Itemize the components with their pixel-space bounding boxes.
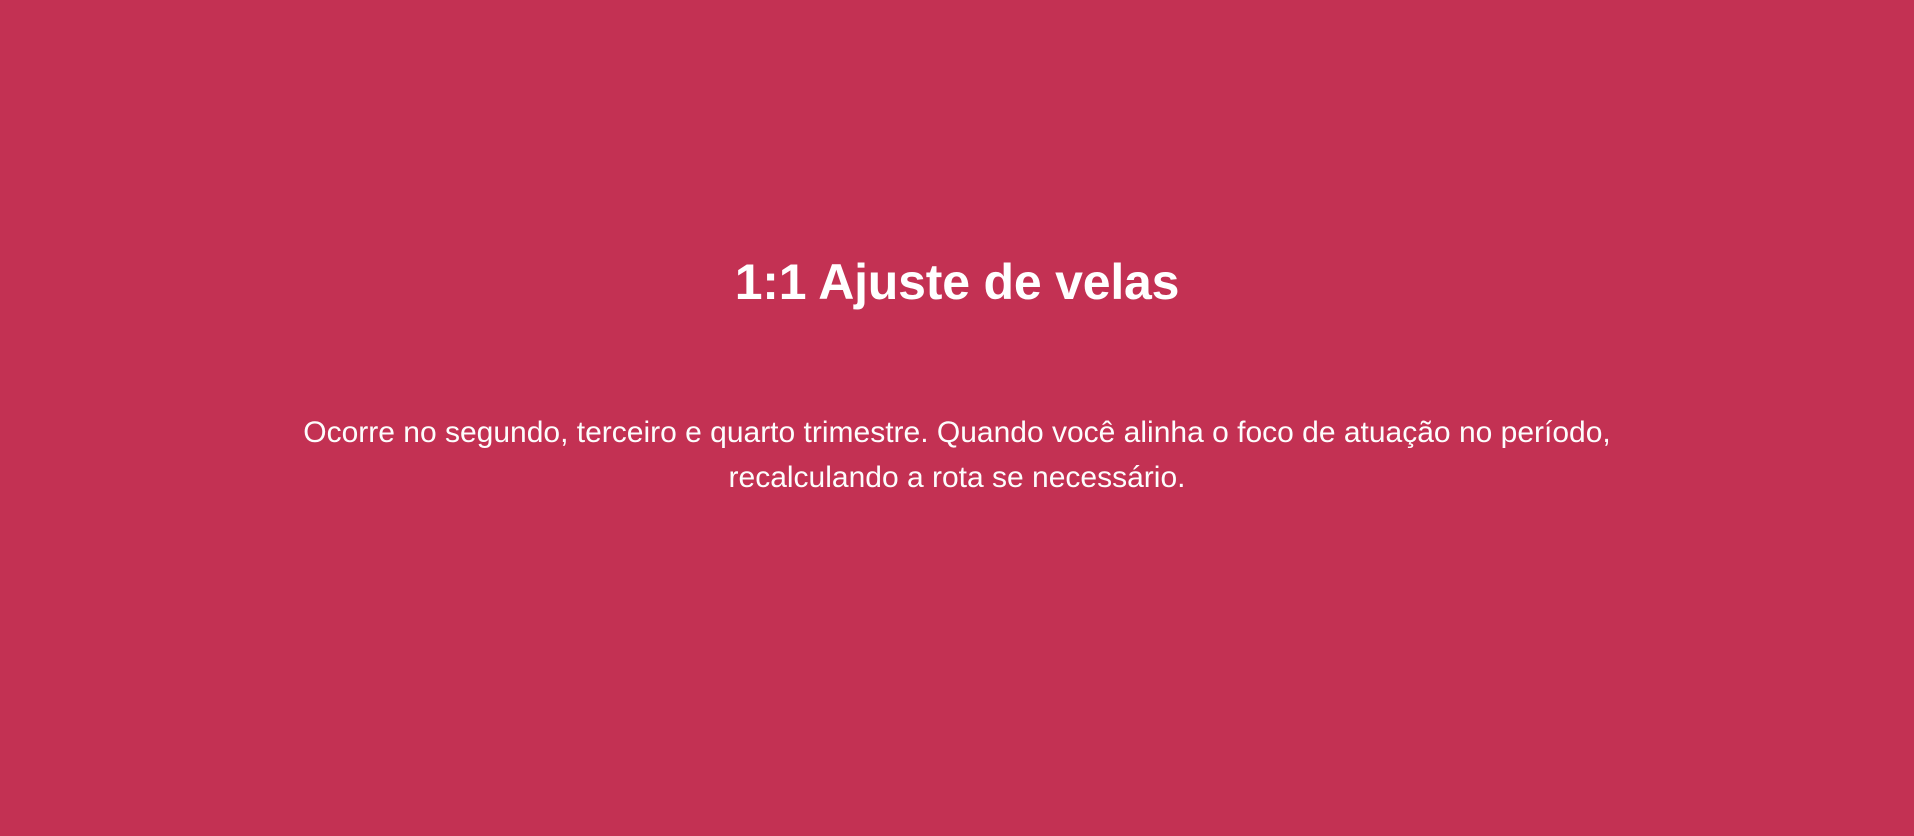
slide-body-text: Ocorre no segundo, terceiro e quarto tri… [292,410,1622,500]
slide-container: 1:1 Ajuste de velas Ocorre no segundo, t… [0,0,1914,836]
slide-title: 1:1 Ajuste de velas [0,252,1914,312]
